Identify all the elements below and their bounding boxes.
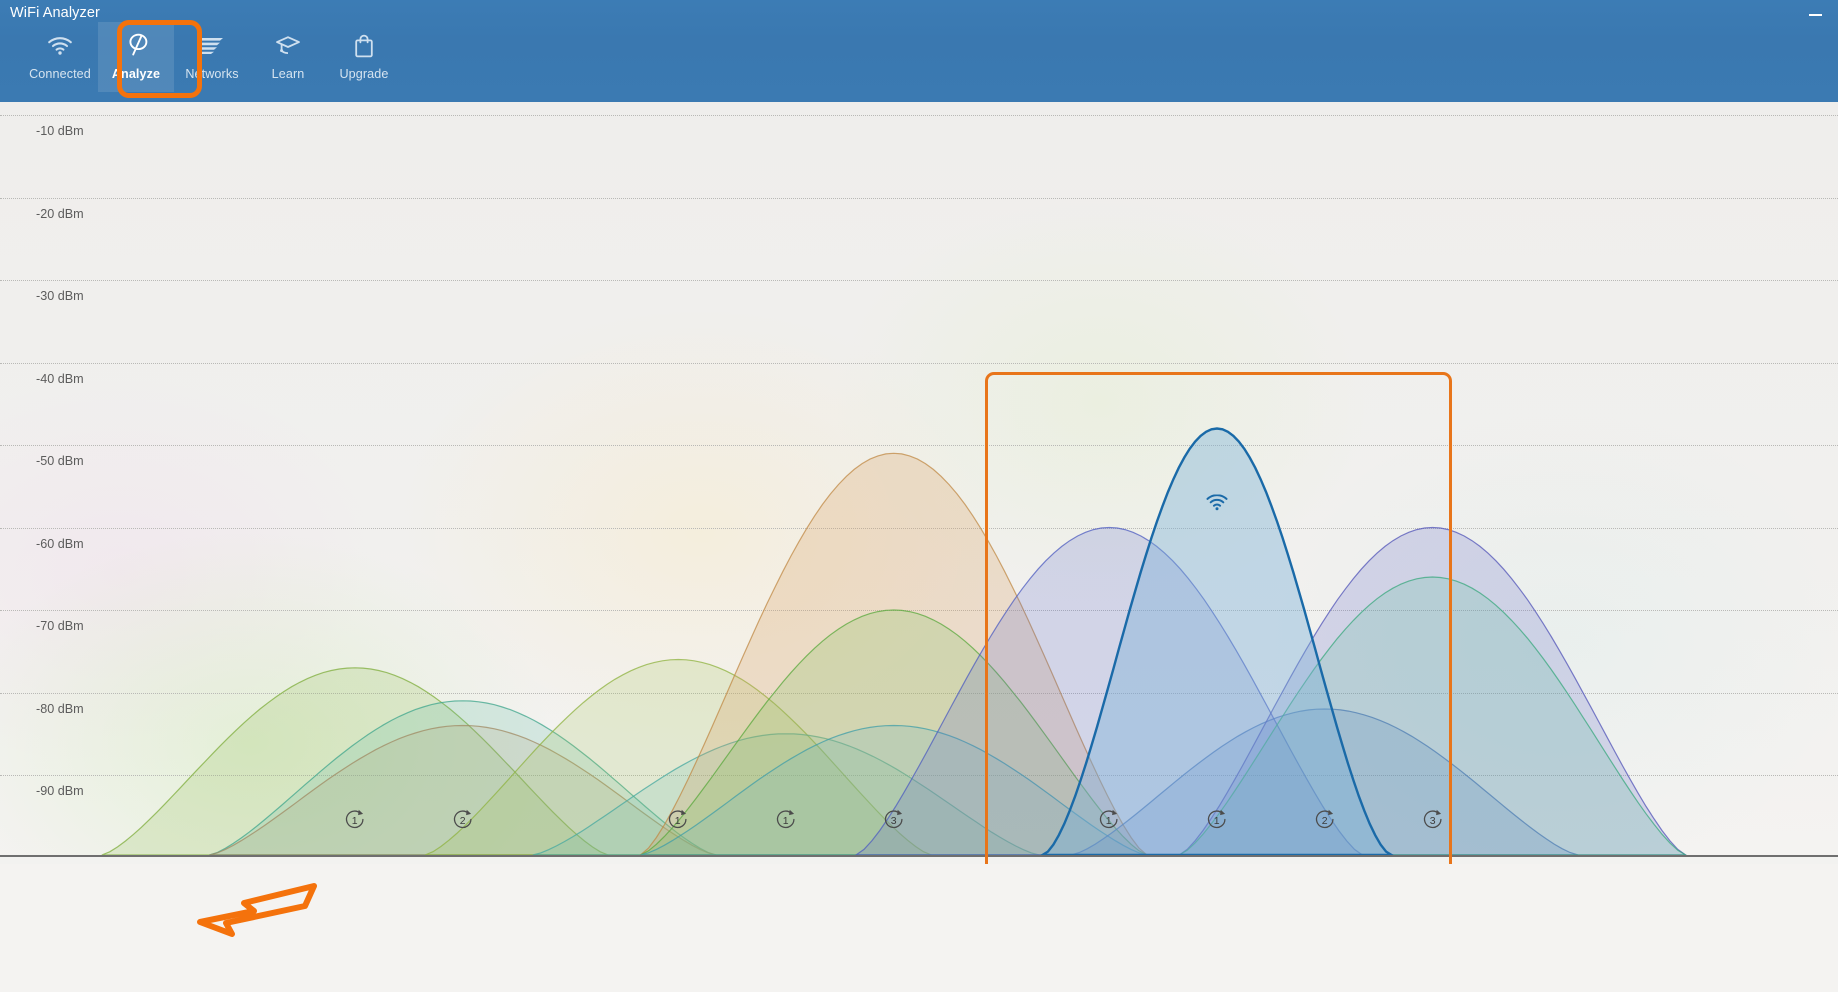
svg-text:1: 1 (352, 815, 358, 827)
nav-label-connected: Connected (29, 67, 91, 81)
network-curves (0, 102, 1838, 864)
channel-count-badge[interactable]: 1 (342, 807, 369, 834)
minimize-icon (1809, 14, 1822, 16)
svg-text:1: 1 (1106, 815, 1112, 827)
wifi-analyzer-window: WiFi Analyzer Connected (0, 0, 1838, 992)
nav-item-connected[interactable]: Connected (22, 22, 98, 92)
connected-network-wifi-icon (1206, 494, 1229, 515)
nav-item-analyze[interactable]: Analyze (98, 22, 174, 92)
channel-count-badge[interactable]: 1 (1096, 807, 1123, 834)
svg-text:3: 3 (891, 815, 897, 827)
channel-count-badge[interactable]: 1 (665, 807, 692, 834)
nav-label-upgrade: Upgrade (339, 67, 388, 81)
channel-count-badge[interactable]: 1 (1204, 807, 1231, 834)
channel-count-badge[interactable]: 2 (1311, 807, 1338, 834)
svg-text:3: 3 (1429, 815, 1435, 827)
graduation-cap-icon (274, 30, 302, 60)
main-nav: Connected Analyze (22, 22, 402, 92)
svg-text:1: 1 (675, 815, 681, 827)
nav-label-networks: Networks (185, 67, 238, 81)
nav-item-learn[interactable]: Learn (250, 22, 326, 92)
svg-text:1: 1 (783, 815, 789, 827)
signal-chart: -10 dBm-20 dBm-30 dBm-40 dBm-50 dBm-60 d… (0, 102, 1838, 864)
channel-count-badge[interactable]: 2 (449, 807, 476, 834)
shopping-bag-icon (353, 30, 375, 60)
nav-label-learn: Learn (272, 67, 305, 81)
magnifier-icon (123, 30, 149, 60)
recommendation-panel: RECOMMENDATION CH 1 ★★★★★★★★★★★ 20 MHz |… (0, 864, 1838, 992)
channel-count-badge[interactable]: 3 (1419, 807, 1446, 834)
nav-label-analyze: Analyze (112, 67, 160, 81)
svg-text:2: 2 (1322, 815, 1328, 827)
svg-text:2: 2 (460, 815, 466, 827)
nav-item-networks[interactable]: Networks (174, 22, 250, 92)
channel-count-badge[interactable]: 1 (773, 807, 800, 834)
title-bar: WiFi Analyzer Connected (0, 0, 1838, 102)
channel-count-badge[interactable]: 3 (880, 807, 907, 834)
list-bars-icon (199, 30, 225, 60)
wifi-icon (47, 30, 73, 60)
app-title: WiFi Analyzer (10, 5, 100, 21)
nav-item-upgrade[interactable]: Upgrade (326, 22, 402, 92)
svg-text:1: 1 (1214, 815, 1220, 827)
minimize-button[interactable] (1792, 0, 1838, 30)
